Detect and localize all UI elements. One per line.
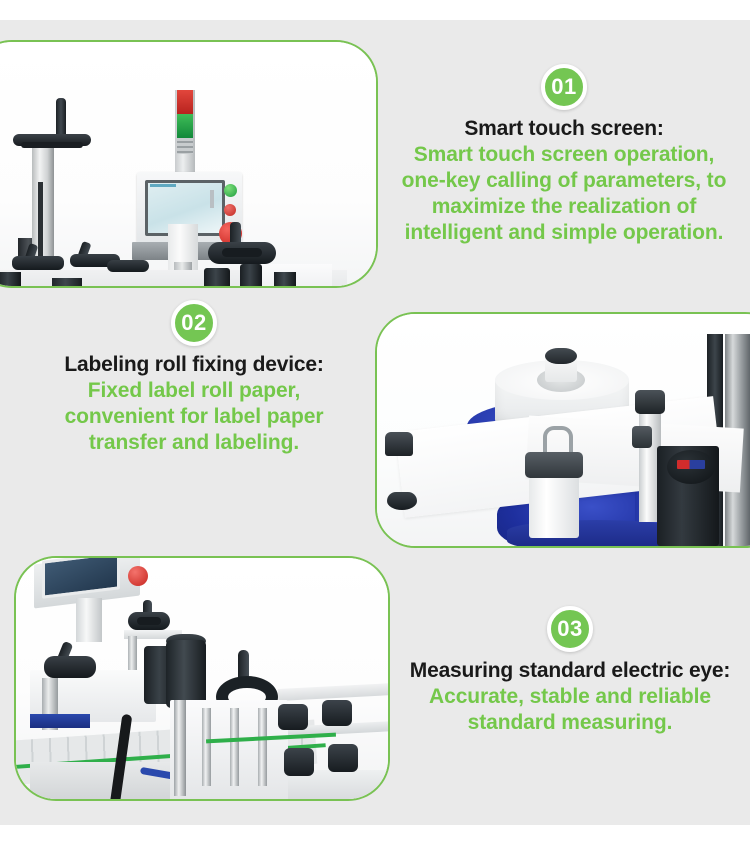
feature-image-3 bbox=[14, 556, 390, 801]
step-badge-01: 01 bbox=[541, 64, 587, 110]
feature-text-3: 03 Measuring standard electric eye: Accu… bbox=[404, 606, 736, 736]
feature-infographic-page: 01 Smart touch screen: Smart touch scree… bbox=[0, 0, 750, 847]
feature-heading-1: Smart touch screen: bbox=[396, 116, 732, 141]
photo-control-panel bbox=[0, 42, 376, 286]
feature-text-2: 02 Labeling roll fixing device: Fixed la… bbox=[36, 300, 352, 456]
feature-text-1: 01 Smart touch screen: Smart touch scree… bbox=[396, 64, 732, 246]
step-badge-02: 02 bbox=[171, 300, 217, 346]
feature-body-1: Smart touch screen operation, one-key ca… bbox=[396, 142, 732, 246]
feature-body-2: Fixed label roll paper, convenient for l… bbox=[36, 378, 352, 456]
feature-heading-3: Measuring standard electric eye: bbox=[404, 658, 736, 683]
feature-image-2 bbox=[375, 312, 750, 548]
photo-conveyor-electric-eye bbox=[16, 558, 388, 799]
feature-image-1 bbox=[0, 40, 378, 288]
feature-heading-2: Labeling roll fixing device: bbox=[36, 352, 352, 377]
feature-body-3: Accurate, stable and reliable standard m… bbox=[404, 684, 736, 736]
photo-label-roll-device bbox=[377, 314, 750, 546]
step-badge-03: 03 bbox=[547, 606, 593, 652]
